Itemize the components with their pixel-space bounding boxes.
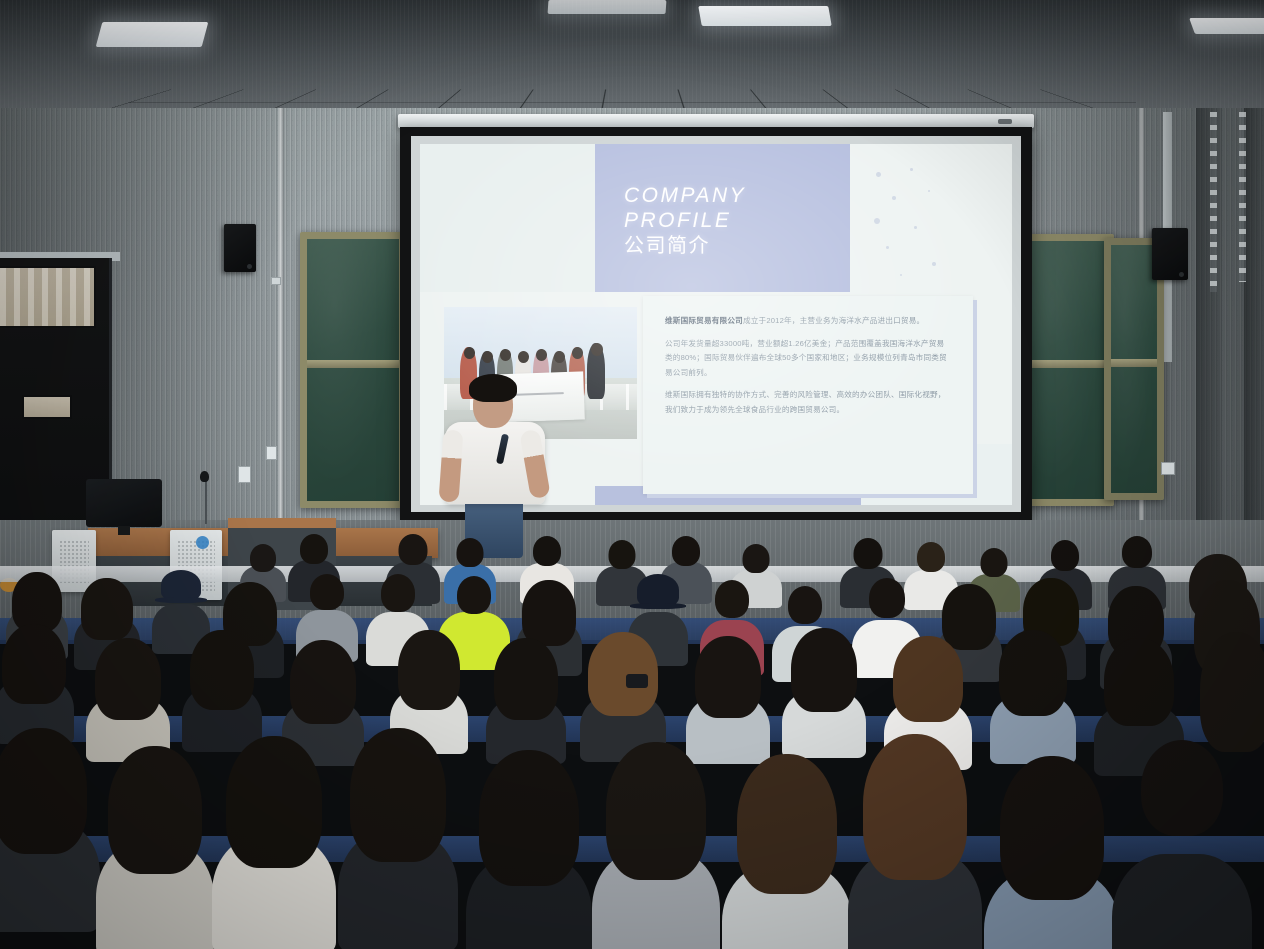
wall-sensor	[271, 277, 281, 285]
person-head	[1141, 740, 1223, 836]
person-head	[609, 540, 636, 569]
ceiling	[0, 0, 1264, 120]
person-head	[869, 578, 905, 618]
photo-person-head	[518, 351, 529, 363]
wall-speaker-right	[1152, 228, 1188, 280]
audience-person	[580, 632, 666, 758]
presenter-hair	[469, 374, 517, 402]
person-hair	[95, 638, 161, 720]
gooseneck-microphone-stand	[205, 478, 207, 524]
person-hair	[863, 734, 967, 880]
person-hair	[737, 754, 837, 894]
person-hair	[290, 640, 356, 724]
slide-block-left	[420, 144, 595, 292]
photo-person-head	[536, 349, 547, 361]
slide-title-cn: 公司简介	[624, 235, 746, 259]
slide-paragraph-1-rest: 成立于2012年，主营业务为海洋水产品进出口贸易。	[743, 316, 924, 325]
slide-title: COMPANY PROFILE 公司简介	[624, 184, 746, 258]
person-head	[533, 536, 561, 566]
person-hair	[190, 630, 254, 710]
light-switch[interactable]	[238, 466, 251, 483]
screen-roller-housing	[398, 114, 1034, 128]
wall-speaker-left	[224, 224, 256, 272]
person-hair	[494, 638, 558, 720]
baseball-cap	[161, 570, 201, 600]
person-head	[1122, 536, 1152, 568]
person-head	[854, 538, 883, 569]
audience-person	[486, 638, 566, 760]
person-head	[1051, 540, 1079, 571]
person-hair	[893, 636, 963, 722]
audience-person	[182, 630, 262, 748]
slide-paragraph-2: 公司年发货量超33000吨，营业额超1.26亿美金；产品范围覆盖我国海洋水产贸易…	[665, 337, 951, 381]
person-head	[399, 534, 428, 565]
photo-person-head	[482, 351, 493, 363]
person-hair	[695, 636, 761, 718]
audience-person	[466, 750, 592, 949]
ceiling-light-panel	[96, 22, 209, 47]
person-hair	[479, 750, 579, 886]
audience-person	[96, 746, 214, 949]
person-hair	[0, 728, 87, 854]
audience-person	[1112, 734, 1252, 949]
person-head	[381, 574, 415, 612]
person-head	[310, 574, 344, 610]
person-hair	[999, 630, 1067, 716]
slide-paragraph-3: 维斯国际拥有独特的协作方式、完善的风险管理、高效的办公团队、国际化视野，我们致力…	[665, 388, 951, 417]
person-head	[457, 538, 484, 567]
gooseneck-microphone	[200, 471, 209, 482]
person-head	[457, 576, 491, 614]
wall-pipe	[1239, 112, 1246, 282]
person-hair	[2, 624, 66, 704]
ceiling-light-panel	[698, 6, 832, 26]
chalkboard-left	[300, 232, 406, 508]
person-head	[743, 544, 770, 573]
baseball-cap	[637, 574, 679, 606]
person-head	[788, 586, 822, 624]
audience-person	[338, 728, 458, 944]
audience-person	[722, 754, 852, 949]
photo-person-head	[572, 347, 583, 359]
person-hair	[226, 736, 322, 868]
audience-person	[0, 624, 74, 740]
wall-pipe	[1210, 112, 1217, 292]
photo-person-head	[464, 347, 475, 359]
person-hair	[1000, 756, 1104, 900]
photo-person-head	[500, 349, 511, 361]
person-hair	[398, 630, 460, 710]
person-hair	[108, 746, 202, 874]
person-head	[981, 548, 1008, 577]
person-head	[250, 544, 276, 572]
photo-person-head	[591, 343, 603, 356]
person-hair	[606, 742, 706, 880]
slide-company-name: 维斯国际贸易有限公司	[665, 316, 743, 325]
hair-clip	[626, 674, 648, 688]
audience-person	[592, 742, 720, 949]
door-window-lower	[22, 395, 72, 419]
audience	[0, 520, 1264, 949]
person-hair	[588, 632, 658, 716]
chalkboard-right	[1022, 234, 1114, 506]
person-hair	[1104, 638, 1174, 726]
slide-paragraph-1: 维斯国际贸易有限公司成立于2012年，主营业务为海洋水产品进出口贸易。	[665, 314, 951, 329]
wall-outlet[interactable]	[266, 446, 277, 460]
person-hair	[81, 578, 133, 640]
door-window-upper	[0, 266, 96, 328]
ceiling-light-panel	[548, 0, 667, 14]
person-body	[1112, 854, 1252, 949]
person-head	[300, 534, 328, 564]
light-switch[interactable]	[1161, 462, 1175, 475]
person-head	[715, 580, 749, 618]
person-head	[917, 542, 945, 572]
audience-person	[848, 734, 982, 949]
ceiling-light-panel	[1189, 18, 1264, 34]
slide-text-card: 维斯国际贸易有限公司成立于2012年，主营业务为海洋水产品进出口贸易。 公司年发…	[643, 296, 973, 494]
slide-title-en-line2: PROFILE	[624, 209, 746, 234]
photo-person-head	[554, 351, 565, 363]
person-hair	[791, 628, 857, 712]
lecture-hall-photo: COMPANY PROFILE 公司简介	[0, 0, 1264, 949]
slide-decor-dots	[870, 166, 990, 286]
person-hair	[12, 572, 62, 632]
audience-person	[990, 630, 1076, 760]
person-head	[672, 536, 700, 566]
person-hair	[350, 728, 446, 862]
audience-person	[0, 728, 100, 928]
slide-title-en-line1: COMPANY	[624, 184, 746, 209]
person-hair	[522, 580, 576, 646]
roller-knob[interactable]	[998, 119, 1012, 124]
audience-person	[212, 736, 336, 948]
audience-person	[984, 756, 1120, 949]
